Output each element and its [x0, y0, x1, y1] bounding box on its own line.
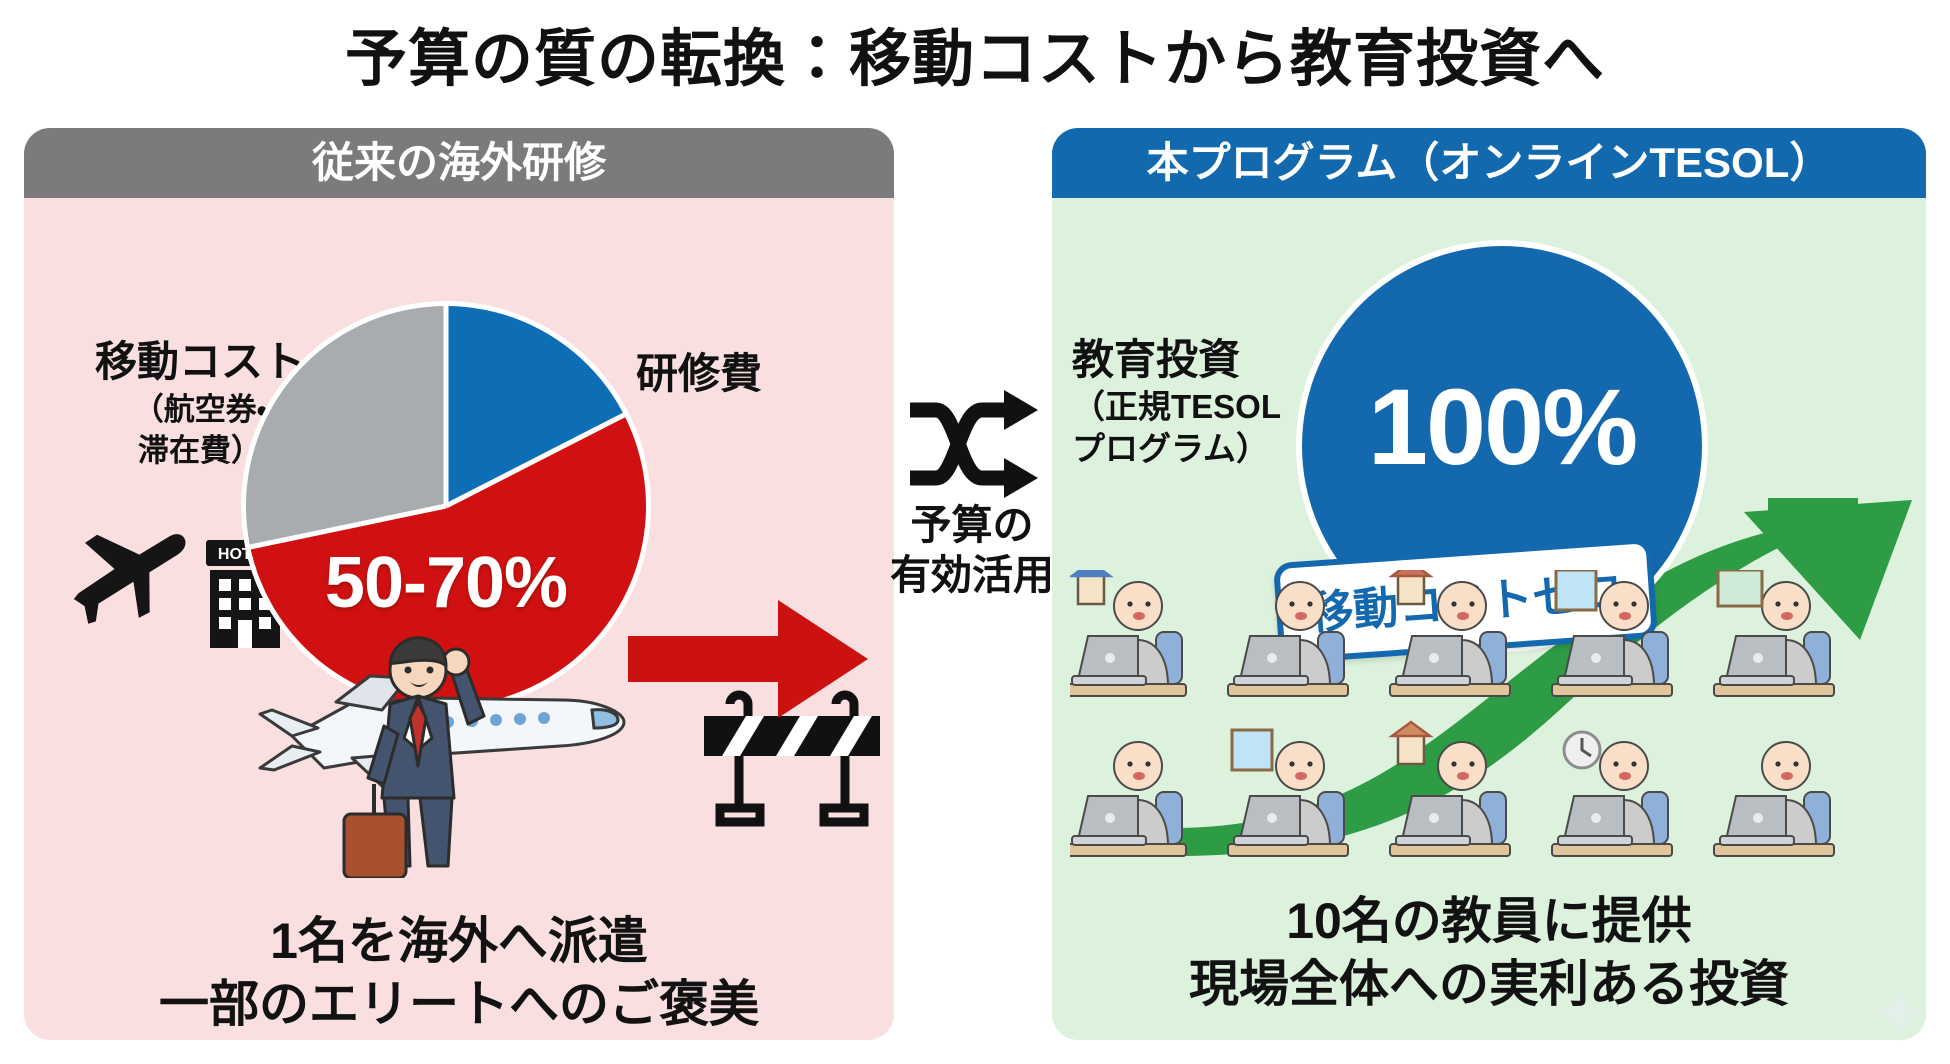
left-panel-header: 従来の海外研修: [24, 128, 894, 198]
middle-caption-line2: 有効活用: [884, 550, 1060, 600]
training-fee-label: 研修費: [636, 340, 876, 401]
shuffle-arrows-icon: [904, 388, 1038, 500]
sparkle-icon: [1870, 984, 1928, 1042]
page-title: 予算の質の転換：移動コストから教育投資へ: [0, 8, 1950, 98]
right-panel-caption: 10名の教員に提供 現場全体への実利ある投資: [1052, 890, 1926, 1016]
ten-teachers-online-learning-illustration: [1070, 570, 1910, 862]
circle-value: 100%: [1302, 364, 1702, 489]
middle-caption: 予算の 有効活用: [884, 500, 1060, 600]
edu-invest-label: 教育投資: [1072, 336, 1240, 383]
right-caption-line2: 現場全体への実利ある投資: [1052, 953, 1926, 1016]
pie-center-value: 50-70%: [246, 542, 646, 624]
right-arrow-icon: [628, 600, 868, 718]
left-panel-caption: 1名を海外へ派遣 一部のエリートへのご褒美: [24, 910, 894, 1036]
infographic-canvas: 予算の質の転換：移動コストから教育投資へ 従来の海外研修 移動コスト （航空券・…: [0, 0, 1950, 1064]
left-panel-traditional-training: 従来の海外研修 移動コスト （航空券・ 滞在費） 研修費 HOTEL: [24, 128, 894, 1040]
middle-caption-line1: 予算の: [884, 500, 1060, 550]
businessman-traveler-illustration: [232, 618, 662, 878]
left-caption-line1: 1名を海外へ派遣: [24, 910, 894, 973]
left-caption-line2: 一部のエリートへのご褒美: [24, 973, 894, 1036]
right-caption-line1: 10名の教員に提供: [1052, 890, 1926, 953]
right-panel-online-tesol: 本プログラム（オンラインTESOL） 教育投資 （正規TESOL プログラム） …: [1052, 128, 1926, 1040]
right-panel-body: 教育投資 （正規TESOL プログラム） 100% 移動コストゼロ: [1052, 198, 1926, 1040]
right-panel-header: 本プログラム（オンラインTESOL）: [1052, 128, 1926, 198]
airplane-icon: [66, 516, 196, 626]
